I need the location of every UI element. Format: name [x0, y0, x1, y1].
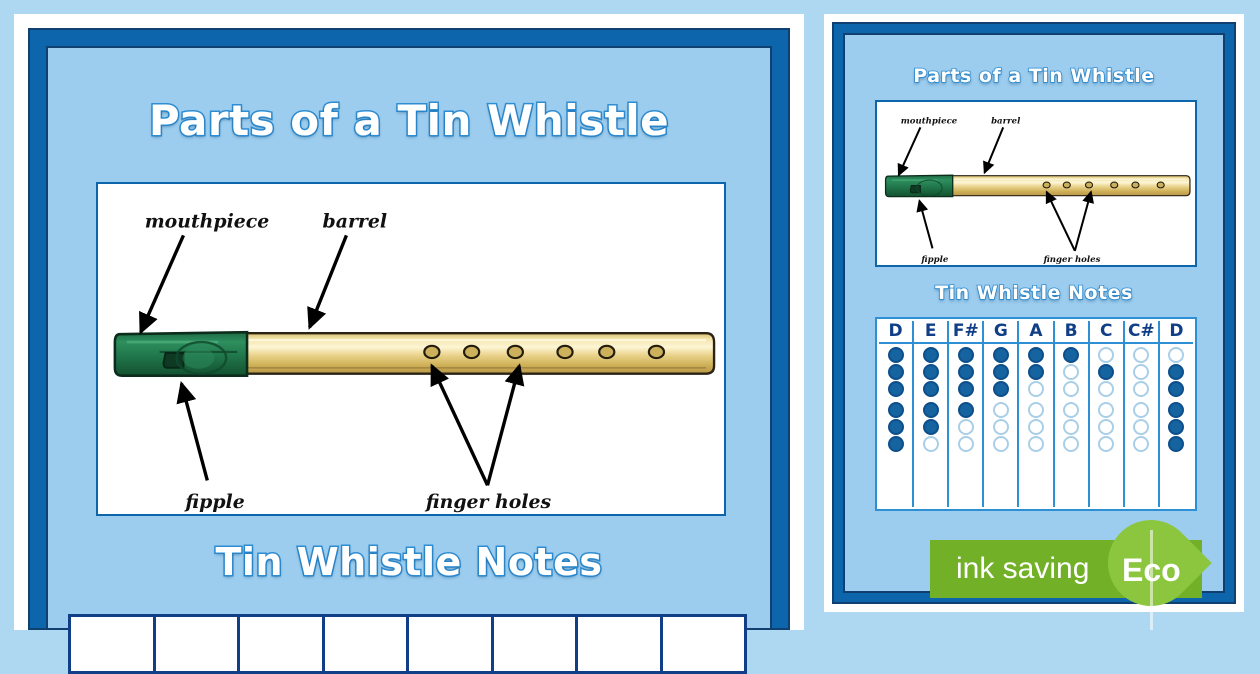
hole-6-open	[1028, 436, 1044, 452]
hole-6-open	[1063, 436, 1079, 452]
hole-6-open	[993, 436, 1009, 452]
thumbnail-title: Parts of a Tin Whistle	[845, 65, 1223, 87]
hole-2-open	[1133, 364, 1149, 380]
eco-badge-text: ink saving	[930, 552, 1089, 586]
hole-4-closed	[923, 402, 939, 418]
notes-table-cell[interactable]	[322, 614, 410, 674]
hole-1-closed	[1063, 347, 1079, 363]
hole-2-closed	[1028, 364, 1044, 380]
fingering-holes	[1133, 344, 1149, 507]
hole-2-closed	[923, 364, 939, 380]
main-poster: Parts of a Tin Whistle	[14, 14, 804, 630]
hole-3-closed	[993, 381, 1009, 397]
hole-6-closed	[1168, 436, 1184, 452]
main-poster-interior: Parts of a Tin Whistle	[46, 46, 772, 630]
whistle-diagram-card: mouthpiece barrel fipple finger holes	[96, 182, 726, 516]
notes-table-cell[interactable]	[491, 614, 579, 674]
fingering-column-D[interactable]: D	[1160, 321, 1193, 507]
hole-5-closed	[923, 419, 939, 435]
fingering-note-header: E	[914, 321, 947, 344]
hole-1-closed	[993, 347, 1009, 363]
eco-badge: ink saving Eco	[930, 528, 1230, 630]
hole-4-closed	[888, 402, 904, 418]
fingering-column-B[interactable]: B	[1055, 321, 1090, 507]
hole-4-open	[1028, 402, 1044, 418]
hole-1-open	[1098, 347, 1114, 363]
hole-5-closed	[888, 419, 904, 435]
label-finger-holes: finger holes	[424, 491, 552, 513]
notes-table-cell[interactable]	[575, 614, 663, 674]
fingering-holes	[993, 344, 1009, 507]
fingering-holes	[1028, 344, 1044, 507]
hole-3-closed	[888, 381, 904, 397]
thumbnail-label-barrel: barrel	[991, 116, 1020, 126]
fingering-column-G[interactable]: G	[984, 321, 1019, 507]
hole-1-open	[1168, 347, 1184, 363]
hole-2-open	[1063, 364, 1079, 380]
hole-3-open	[1063, 381, 1079, 397]
main-notes-table	[68, 614, 744, 674]
hole-3-open	[1133, 381, 1149, 397]
barrel-arrow	[310, 235, 347, 327]
fingering-note-header: F#	[949, 321, 982, 344]
fingering-holes	[888, 344, 904, 507]
fingering-holes	[1168, 344, 1184, 507]
mouthpiece-arrow	[141, 235, 184, 332]
hole-5-open	[1028, 419, 1044, 435]
thumbnail-label-fipple: fipple	[920, 254, 948, 264]
thumbnail-label-mouthpiece: mouthpiece	[901, 116, 958, 126]
thumbnail-diagram-svg: mouthpiece barrel fipple finger holes	[877, 102, 1195, 265]
label-barrel: barrel	[323, 211, 387, 233]
eco-badge-word: Eco	[1122, 552, 1181, 589]
fingering-note-header: C#	[1125, 321, 1158, 344]
hole-2-closed	[888, 364, 904, 380]
hole-6-open	[1098, 436, 1114, 452]
hole-6-closed	[888, 436, 904, 452]
hole-4-open	[1063, 402, 1079, 418]
fingering-holes	[1063, 344, 1079, 507]
thumbnail-poster[interactable]: Parts of a Tin Whistle	[824, 14, 1244, 612]
fingering-note-header: A	[1019, 321, 1052, 344]
fingering-holes	[958, 344, 974, 507]
hole-5-open	[958, 419, 974, 435]
notes-table-cell[interactable]	[237, 614, 325, 674]
whistle-diagram-svg: mouthpiece barrel fipple finger holes	[98, 184, 724, 514]
fingering-column-Csharp[interactable]: C#	[1125, 321, 1160, 507]
hole-3-closed	[958, 381, 974, 397]
finger-holes-arrow-left	[432, 366, 488, 486]
hole-5-open	[1133, 419, 1149, 435]
fingering-note-header: G	[984, 321, 1017, 344]
hole-5-closed	[1168, 419, 1184, 435]
thumbnail-subtitle: Tin Whistle Notes	[845, 282, 1223, 304]
fingering-column-E[interactable]: E	[914, 321, 949, 507]
label-fipple: fipple	[183, 491, 244, 513]
hole-2-closed	[1168, 364, 1184, 380]
hole-2-closed	[958, 364, 974, 380]
hole-4-open	[993, 402, 1009, 418]
notes-table-cell[interactable]	[153, 614, 241, 674]
hole-1-closed	[958, 347, 974, 363]
notes-table-cell[interactable]	[660, 614, 748, 674]
hole-1-closed	[923, 347, 939, 363]
fingering-column-Fsharp[interactable]: F#	[949, 321, 984, 507]
fingering-column-A[interactable]: A	[1019, 321, 1054, 507]
thumbnail-diagram-card: mouthpiece barrel fipple finger holes	[875, 100, 1197, 267]
hole-3-open	[1098, 381, 1114, 397]
thumbnail-label-finger-holes: finger holes	[1043, 254, 1101, 264]
fingering-chart: DEF#GABCC#D	[875, 317, 1197, 511]
hole-4-closed	[1168, 402, 1184, 418]
hole-5-open	[1098, 419, 1114, 435]
hole-6-open	[923, 436, 939, 452]
hole-3-closed	[923, 381, 939, 397]
fipple-arrow	[181, 384, 207, 481]
notes-table-cell[interactable]	[68, 614, 156, 674]
hole-5-open	[1063, 419, 1079, 435]
thumbnail-interior: Parts of a Tin Whistle	[843, 33, 1225, 593]
hole-1-closed	[888, 347, 904, 363]
fingering-note-header: D	[1160, 321, 1193, 344]
fingering-note-header: D	[879, 321, 912, 344]
main-poster-title: Parts of a Tin Whistle	[48, 96, 770, 145]
finger-holes-arrow-right	[488, 366, 520, 486]
hole-1-open	[1133, 347, 1149, 363]
main-poster-subtitle: Tin Whistle Notes	[48, 540, 770, 584]
fingering-note-header: C	[1090, 321, 1123, 344]
hole-3-open	[1028, 381, 1044, 397]
hole-6-open	[1133, 436, 1149, 452]
poster-preview-stage: Parts of a Tin Whistle	[0, 0, 1260, 630]
hole-2-closed	[993, 364, 1009, 380]
hole-2-closed	[1098, 364, 1114, 380]
fingering-column-D[interactable]: D	[879, 321, 914, 507]
hole-4-open	[1133, 402, 1149, 418]
fingering-holes	[923, 344, 939, 507]
hole-3-closed	[1168, 381, 1184, 397]
fingering-holes	[1098, 344, 1114, 507]
hole-4-open	[1098, 402, 1114, 418]
fingering-column-C[interactable]: C	[1090, 321, 1125, 507]
label-mouthpiece: mouthpiece	[145, 211, 270, 233]
hole-6-open	[958, 436, 974, 452]
notes-table-cell[interactable]	[406, 614, 494, 674]
hole-1-closed	[1028, 347, 1044, 363]
hole-5-open	[993, 419, 1009, 435]
hole-4-closed	[958, 402, 974, 418]
fingering-note-header: B	[1055, 321, 1088, 344]
